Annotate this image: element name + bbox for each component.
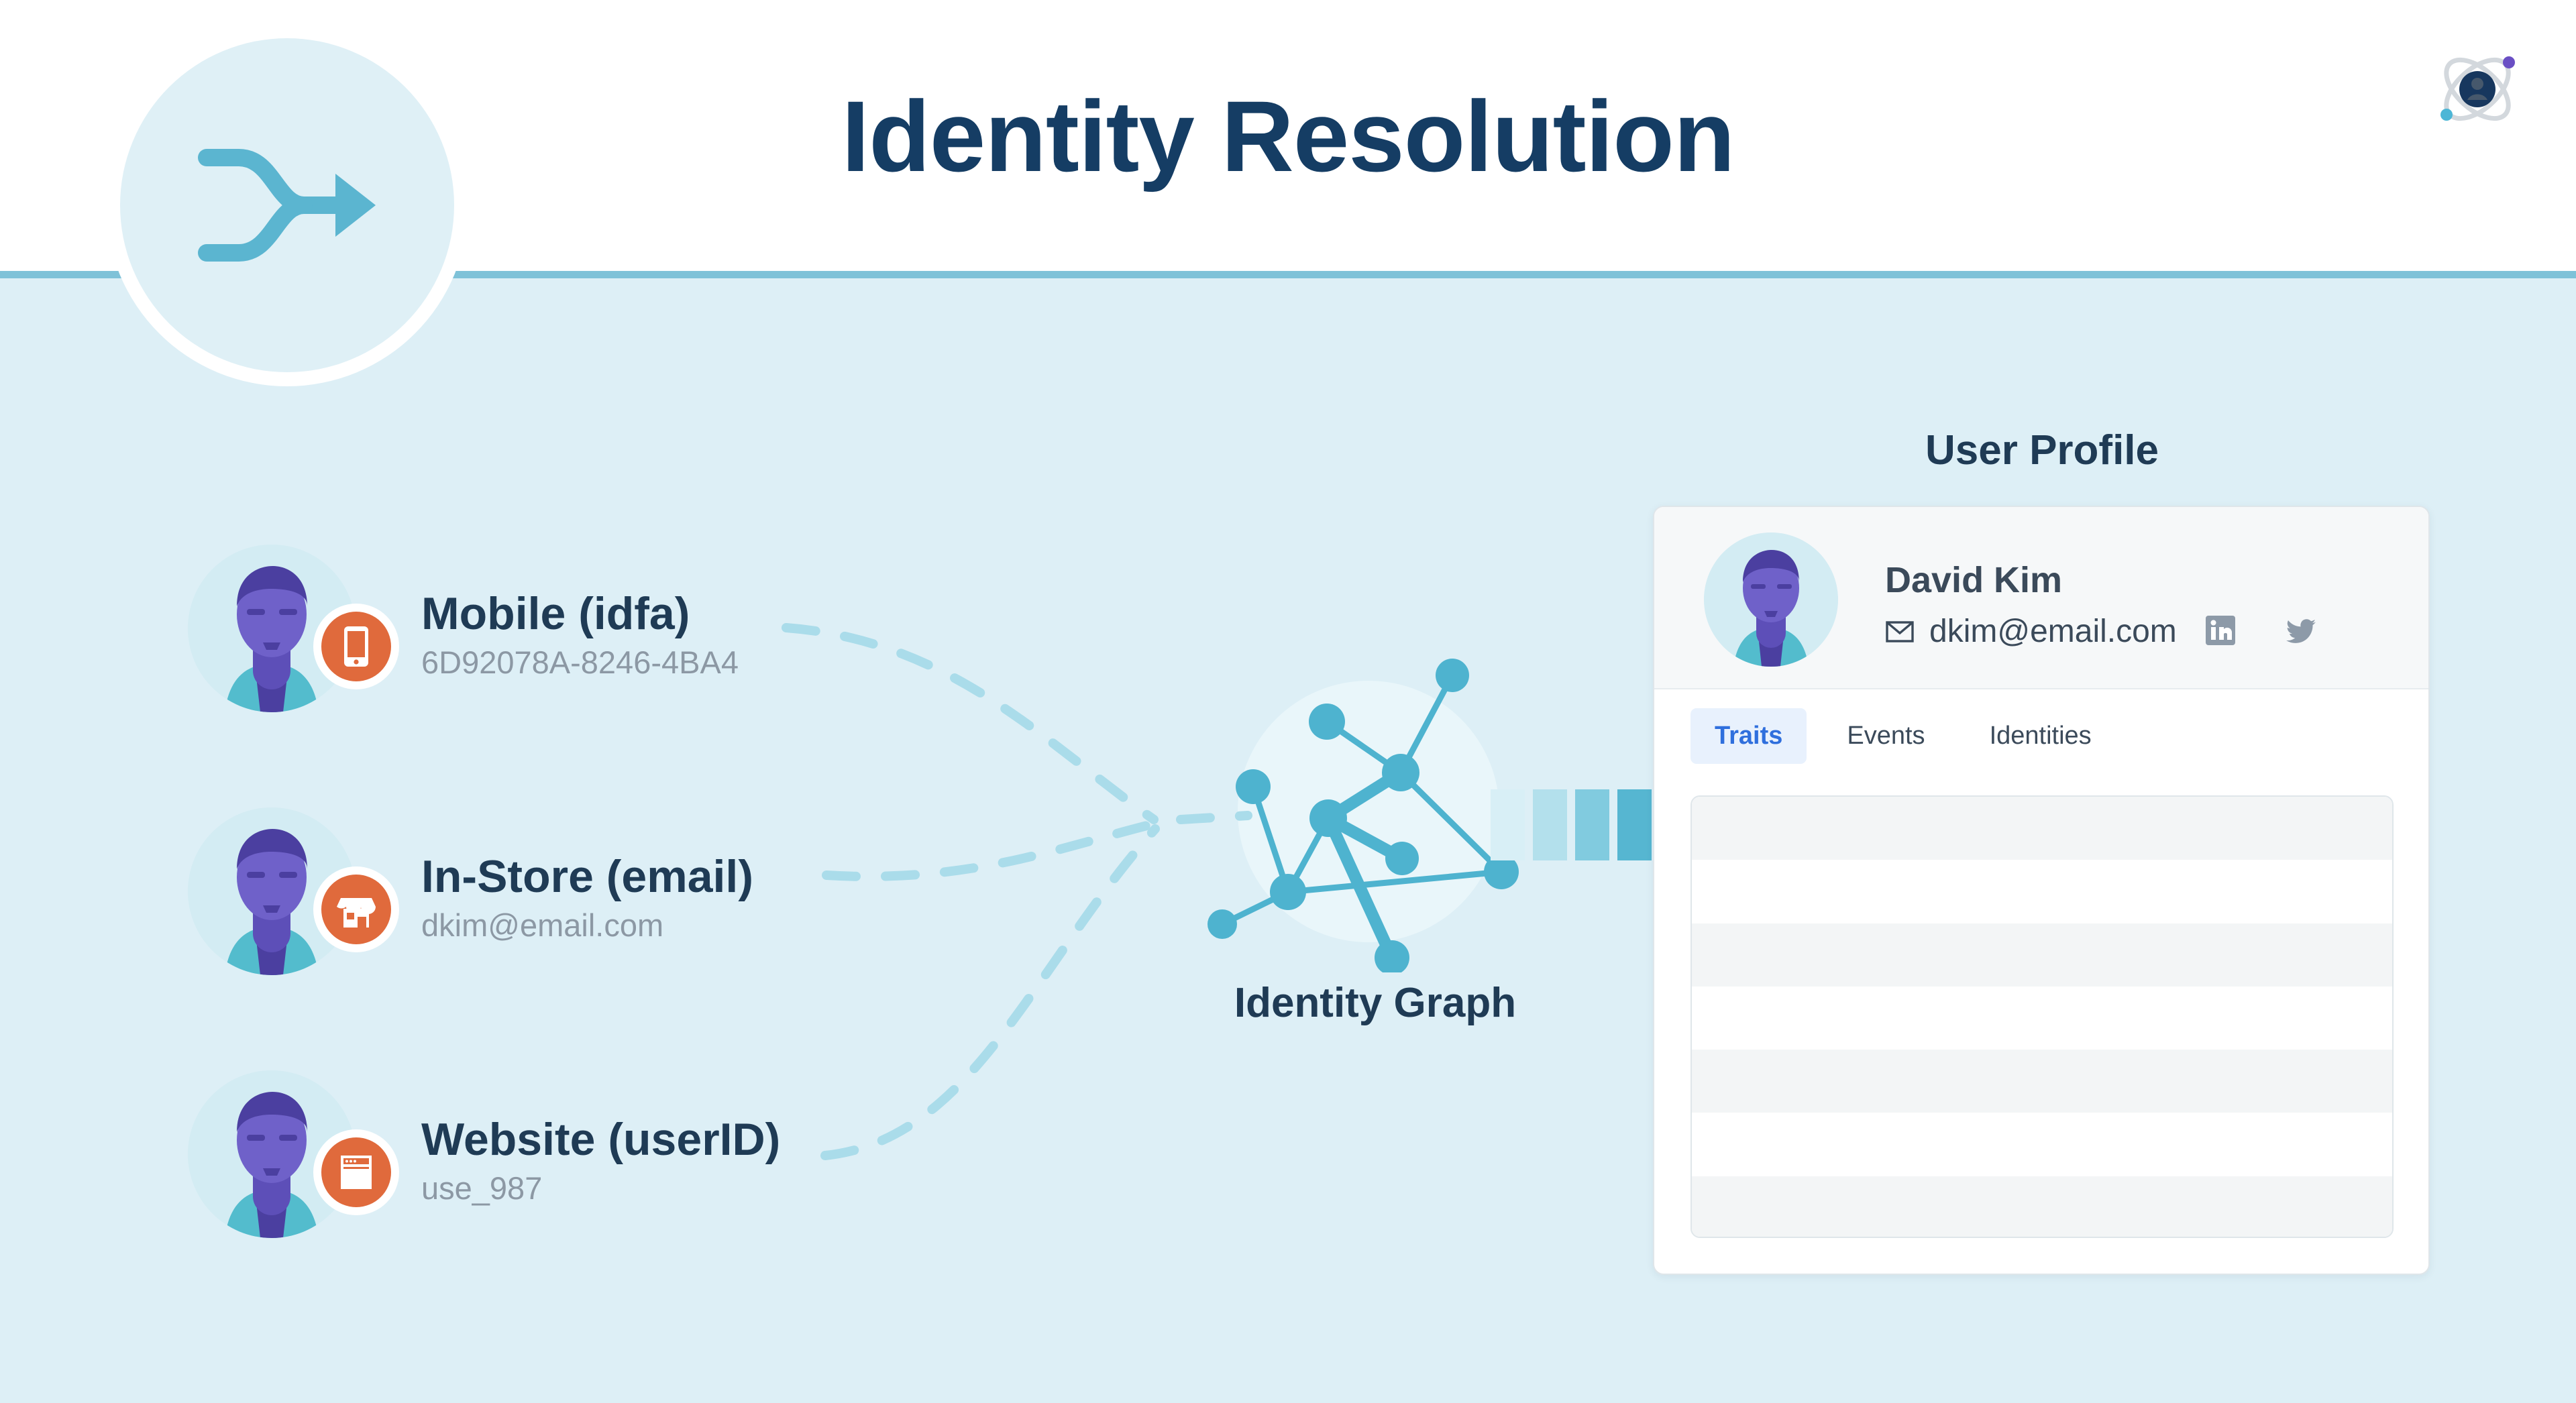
identity-title: In-Store (email) [421, 853, 753, 901]
mobile-phone-icon [339, 624, 374, 669]
identity-text-instore: In-Store (email) dkim@email.com [421, 853, 753, 941]
tab-events[interactable]: Events [1823, 708, 1949, 764]
profile-tabs: Traits Events Identities [1690, 708, 2116, 764]
profile-social-links [2204, 614, 2317, 647]
identity-row-website[interactable]: Website (userID) use_987 [188, 1062, 959, 1245]
identity-title: Website (userID) [421, 1116, 780, 1164]
user-profile-card: David Kim dkim@email.com [1653, 506, 2430, 1275]
identity-value: dkim@email.com [421, 909, 753, 941]
identity-graph-label: Identity Graph [1087, 979, 1664, 1027]
identity-value: 6D92078A-8246-4BA4 [421, 647, 739, 678]
identity-text-website: Website (userID) use_987 [421, 1116, 780, 1204]
table-row[interactable] [1692, 1176, 2392, 1238]
merge-arrow-icon [186, 142, 388, 269]
storefront-icon [335, 889, 377, 930]
slide-root: Identity Resolution [0, 0, 2576, 1403]
identity-row-instore[interactable]: In-Store (email) dkim@email.com [188, 799, 959, 982]
profile-name: David Kim [1885, 559, 2062, 601]
atom-user-icon [2427, 39, 2528, 139]
identity-title: Mobile (idfa) [421, 590, 739, 638]
identity-row-mobile[interactable]: Mobile (idfa) 6D92078A-8246-4BA4 [188, 537, 959, 719]
tab-identities[interactable]: Identities [1966, 708, 2116, 764]
table-row[interactable] [1692, 1050, 2392, 1113]
merge-logo-badge [106, 24, 468, 386]
data-flow-bars [1491, 789, 1652, 860]
user-profile-heading: User Profile [1653, 427, 2431, 474]
profile-email: dkim@email.com [1929, 613, 2177, 650]
atom-dot-purple [2503, 56, 2515, 68]
browser-window-icon [337, 1152, 376, 1193]
twitter-icon[interactable] [2285, 614, 2317, 647]
identity-source-list: Mobile (idfa) 6D92078A-8246-4BA4 [188, 537, 959, 1325]
tab-traits[interactable]: Traits [1690, 708, 1807, 764]
merge-logo-circle [120, 38, 454, 372]
traits-table[interactable] [1690, 795, 2394, 1238]
identity-badge-instore [313, 866, 399, 952]
avatar [1704, 532, 1838, 667]
table-row[interactable] [1692, 860, 2392, 923]
identity-value: use_987 [421, 1172, 780, 1204]
linkedin-icon[interactable] [2204, 614, 2237, 647]
identity-badge-website [313, 1129, 399, 1215]
table-row[interactable] [1692, 1113, 2392, 1176]
profile-contact-row: dkim@email.com [1885, 613, 2177, 650]
atom-dot-cyan [2440, 109, 2453, 121]
table-row[interactable] [1692, 987, 2392, 1050]
table-row[interactable] [1692, 797, 2392, 860]
identity-badge-mobile [313, 604, 399, 689]
identity-text-mobile: Mobile (idfa) 6D92078A-8246-4BA4 [421, 590, 739, 678]
table-row[interactable] [1692, 923, 2392, 987]
profile-card-header: David Kim dkim@email.com [1654, 507, 2428, 689]
envelope-icon [1885, 617, 1915, 647]
flow-bar-3 [1575, 789, 1609, 860]
flow-bar-4 [1617, 789, 1652, 860]
flow-bar-1 [1491, 789, 1525, 860]
flow-bar-2 [1533, 789, 1567, 860]
